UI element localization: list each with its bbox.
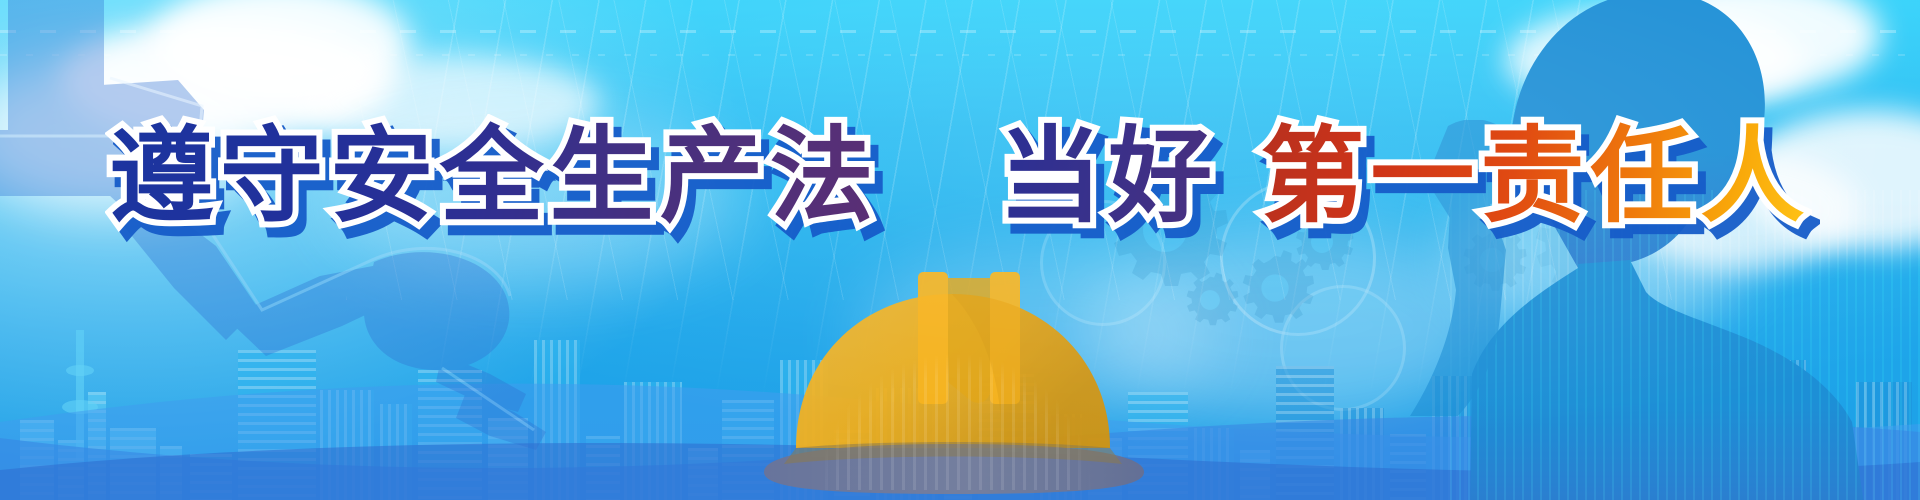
helmet-city-texture (770, 290, 1140, 490)
safety-banner: 遵守安全生产法 当好 第一责任人 遵守安全生产法 当好 第一责任人 (0, 0, 1920, 500)
robot-arm-icon (0, 0, 550, 458)
raised-arm-icon (1330, 120, 1590, 420)
